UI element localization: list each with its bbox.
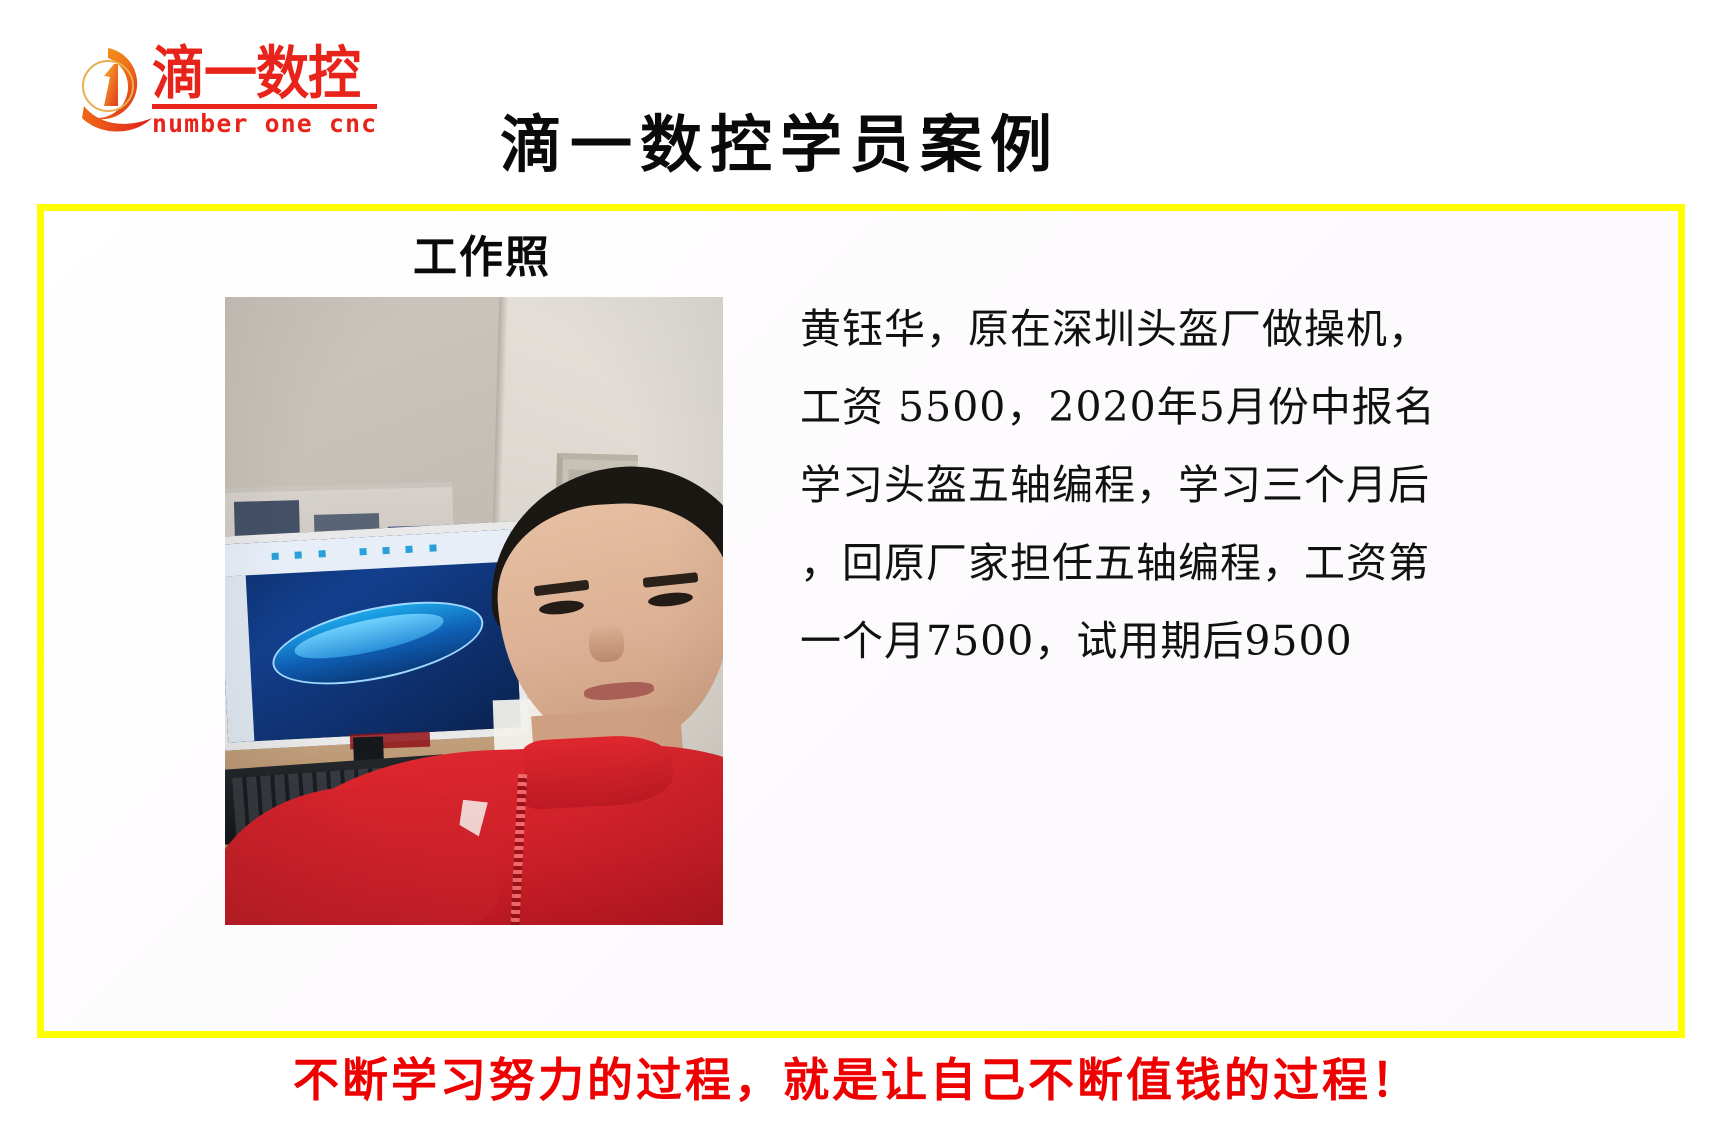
story-line: 黄钰华，原在深圳头盔厂做操机， [800, 290, 1490, 368]
photo-scene [225, 297, 723, 925]
logo-name-cn: 滴一数控 [152, 42, 377, 109]
brand-logo: 滴一数控 number one cnc [60, 42, 380, 142]
story-line: 一个月7500，试用期后9500 [800, 602, 1490, 680]
page-title: 滴一数控学员案例 [420, 108, 1140, 182]
student-work-photo [225, 297, 723, 925]
logo-wordmark: 滴一数控 number one cnc [152, 42, 377, 140]
story-line: 工资 5500，2020年5月份中报名 [800, 368, 1490, 446]
logo-name-en: number one cnc [152, 110, 375, 138]
story-line: ，回原厂家担任五轴编程，工资第 [800, 524, 1490, 602]
photo-label: 工作照 [413, 232, 551, 284]
photo-vignette [225, 297, 723, 925]
motivational-slogan: 不断学习努力的过程，就是让自己不断值钱的过程！ [0, 1050, 1713, 1110]
logo-swoosh-icon [60, 44, 156, 138]
student-story: 黄钰华，原在深圳头盔厂做操机， 工资 5500，2020年5月份中报名 学习头盔… [800, 290, 1490, 680]
story-line: 学习头盔五轴编程，学习三个月后 [800, 446, 1490, 524]
